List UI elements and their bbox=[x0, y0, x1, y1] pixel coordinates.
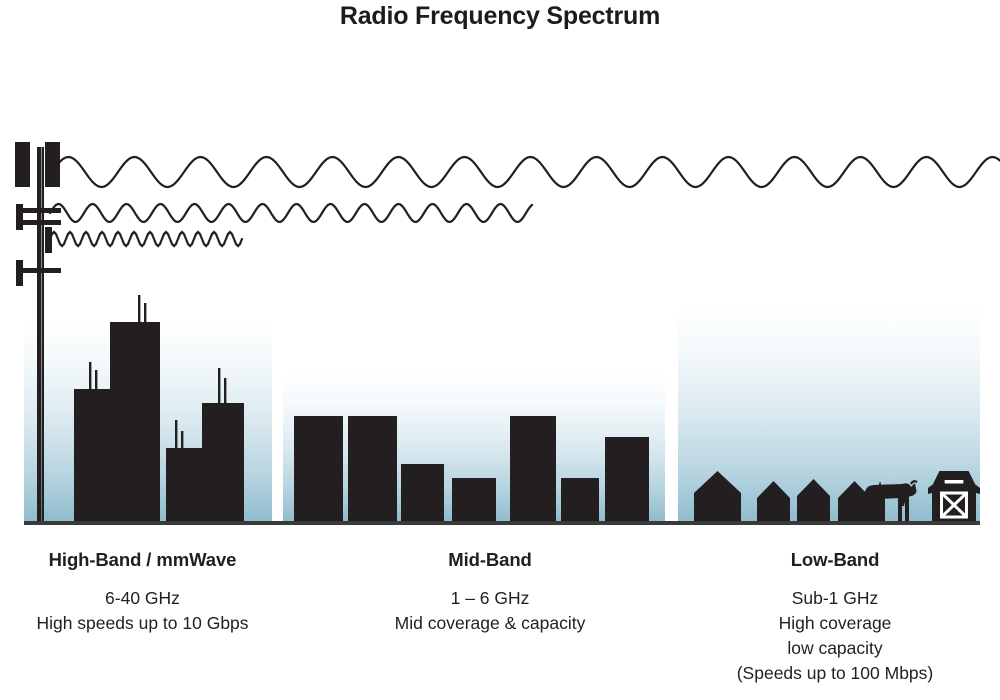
antenna-spire bbox=[95, 370, 97, 389]
antenna-spire bbox=[144, 303, 146, 322]
antenna-panel bbox=[16, 204, 23, 230]
mid-band-skyline bbox=[283, 372, 665, 521]
building bbox=[166, 448, 202, 521]
building bbox=[110, 322, 160, 521]
antenna-spire bbox=[89, 362, 91, 389]
cow-leg bbox=[878, 496, 882, 521]
band-description-low-band: Sub-1 GHz High coverage low capacity (Sp… bbox=[690, 586, 980, 686]
band-label-mid-band: Mid-Band 1 – 6 GHz Mid coverage & capaci… bbox=[350, 549, 630, 636]
antenna-spire bbox=[218, 368, 220, 403]
tower-crossbar bbox=[23, 220, 61, 225]
radio-frequency-spectrum-infographic: Radio Frequency Spectrum High-Band / mmW… bbox=[0, 0, 1000, 700]
low-frequency-wave bbox=[52, 157, 1000, 187]
high-band-skyline bbox=[24, 295, 272, 521]
band-desc-line: Sub-1 GHz bbox=[690, 586, 980, 611]
antenna-spire bbox=[175, 420, 177, 448]
building bbox=[561, 478, 599, 521]
band-desc-line: Mid coverage & capacity bbox=[350, 611, 630, 636]
band-title-mid-band: Mid-Band bbox=[350, 549, 630, 571]
low-band-countryside bbox=[678, 305, 980, 521]
antenna-spire bbox=[138, 295, 140, 322]
building bbox=[401, 464, 444, 521]
mid-frequency-wave bbox=[50, 204, 532, 222]
high-frequency-wave bbox=[50, 232, 242, 246]
band-label-high-band: High-Band / mmWave 6-40 GHz High speeds … bbox=[0, 549, 285, 636]
tower-mast bbox=[37, 147, 42, 521]
barn-silhouette bbox=[928, 471, 980, 521]
tower-mast-edge bbox=[42, 147, 44, 521]
band-labels: High-Band / mmWave 6-40 GHz High speeds … bbox=[0, 540, 1000, 700]
building bbox=[294, 416, 343, 521]
barn-loft-vent bbox=[945, 480, 964, 484]
spectrum-illustration bbox=[0, 0, 1000, 540]
cow-leg bbox=[898, 496, 902, 521]
band-desc-line: low capacity bbox=[690, 636, 980, 661]
spectrum-scene-svg bbox=[0, 0, 1000, 540]
building bbox=[510, 416, 556, 521]
band-label-low-band: Low-Band Sub-1 GHz High coverage low cap… bbox=[690, 549, 980, 686]
antenna-spire bbox=[181, 431, 183, 448]
antenna-panel bbox=[16, 260, 23, 286]
building bbox=[452, 478, 496, 521]
tower-crossbar bbox=[23, 208, 61, 213]
band-description-mid-band: 1 – 6 GHz Mid coverage & capacity bbox=[350, 586, 630, 636]
band-title-high-band: High-Band / mmWave bbox=[0, 549, 285, 571]
band-panels-layer bbox=[24, 295, 980, 521]
band-description-high-band: 6-40 GHz High speeds up to 10 Gbps bbox=[0, 586, 285, 636]
band-desc-line: 6-40 GHz bbox=[0, 586, 285, 611]
band-title-low-band: Low-Band bbox=[690, 549, 980, 571]
ground-line bbox=[24, 521, 980, 525]
cow-leg bbox=[871, 496, 875, 521]
antenna-spire bbox=[224, 378, 226, 403]
building bbox=[202, 403, 244, 521]
building bbox=[348, 416, 397, 521]
barn-body bbox=[932, 471, 976, 521]
band-desc-line: 1 – 6 GHz bbox=[350, 586, 630, 611]
tower-crossbar bbox=[23, 268, 61, 273]
band-desc-line: (Speeds up to 100 Mbps) bbox=[690, 661, 980, 686]
radio-waves-layer bbox=[50, 157, 1000, 246]
band-desc-line: High speeds up to 10 Gbps bbox=[0, 611, 285, 636]
band-desc-line: High coverage bbox=[690, 611, 980, 636]
ground-layer bbox=[24, 521, 980, 525]
building bbox=[74, 389, 110, 521]
cow-leg bbox=[905, 496, 909, 521]
building bbox=[605, 437, 649, 521]
antenna-panel bbox=[15, 142, 30, 187]
antenna-panel bbox=[45, 227, 52, 253]
